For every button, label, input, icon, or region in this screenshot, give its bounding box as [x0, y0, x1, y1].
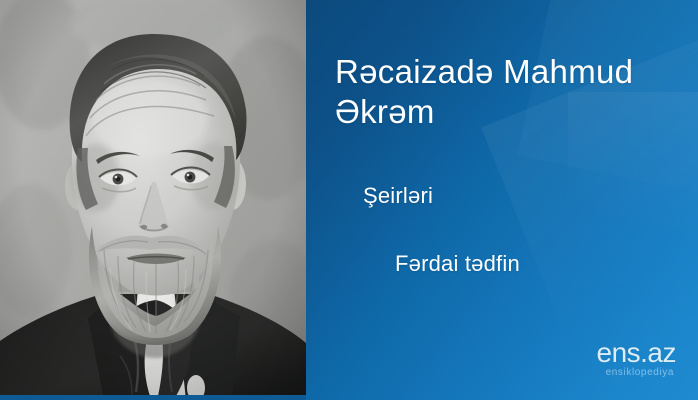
portrait-photo-image	[0, 0, 306, 400]
site-logo-name: ens.az	[597, 339, 677, 367]
page-title: Rəcaizadə Mahmud Əkrəm	[335, 52, 687, 132]
site-logo[interactable]: ens.az ensiklopediya	[597, 339, 677, 378]
info-panel: Rəcaizadə Mahmud Əkrəm Şeirləri Fərdai t…	[306, 0, 698, 400]
portrait-photo	[0, 0, 306, 400]
subtitle-category: Şeirləri	[363, 183, 433, 209]
subtitle-work-title: Fərdai tədfin	[395, 251, 520, 277]
photo-bottom-bar	[0, 395, 306, 400]
slide-card: Rəcaizadə Mahmud Əkrəm Şeirləri Fərdai t…	[0, 0, 698, 400]
site-logo-tagline: ensiklopediya	[597, 368, 675, 378]
